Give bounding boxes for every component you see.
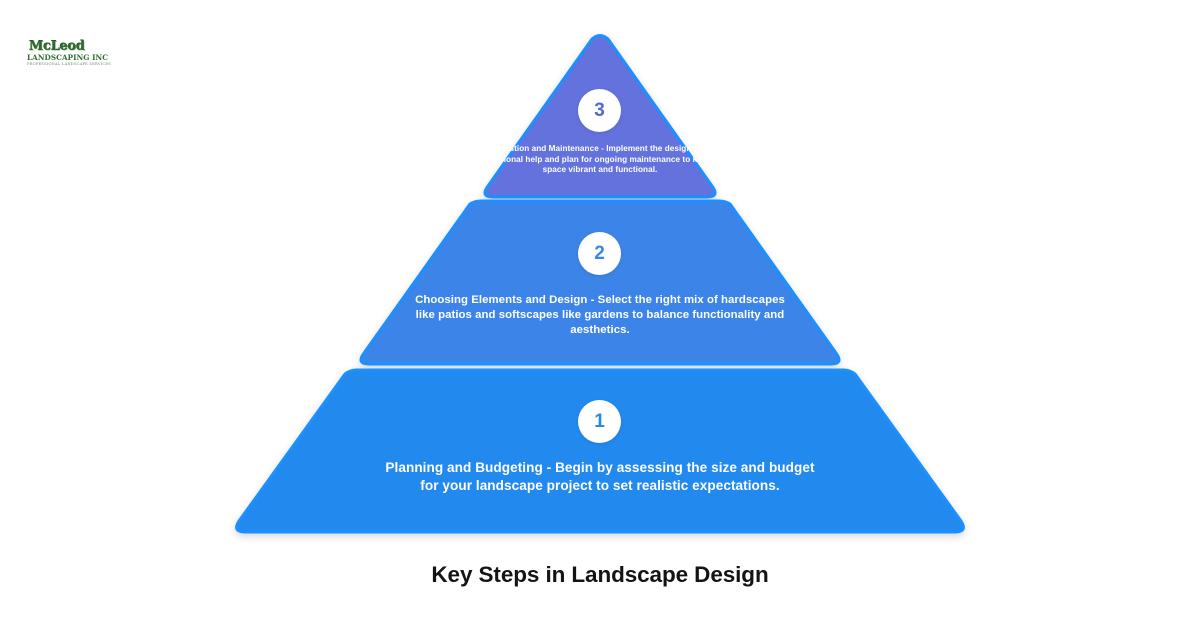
pyramid-tier-1-number-badge: 1: [578, 400, 621, 443]
pyramid-tier-2-shape[interactable]: [361, 201, 839, 364]
page-title: Key Steps in Landscape Design: [0, 562, 1200, 588]
pyramid-tier-1-shape[interactable]: [237, 370, 964, 532]
pyramid-diagram: 3 Execution and Maintenance - Implement …: [0, 0, 1200, 545]
pyramid-tier-2-number-badge: 2: [578, 232, 621, 275]
pyramid-tier-3-number-badge: 3: [578, 89, 621, 132]
